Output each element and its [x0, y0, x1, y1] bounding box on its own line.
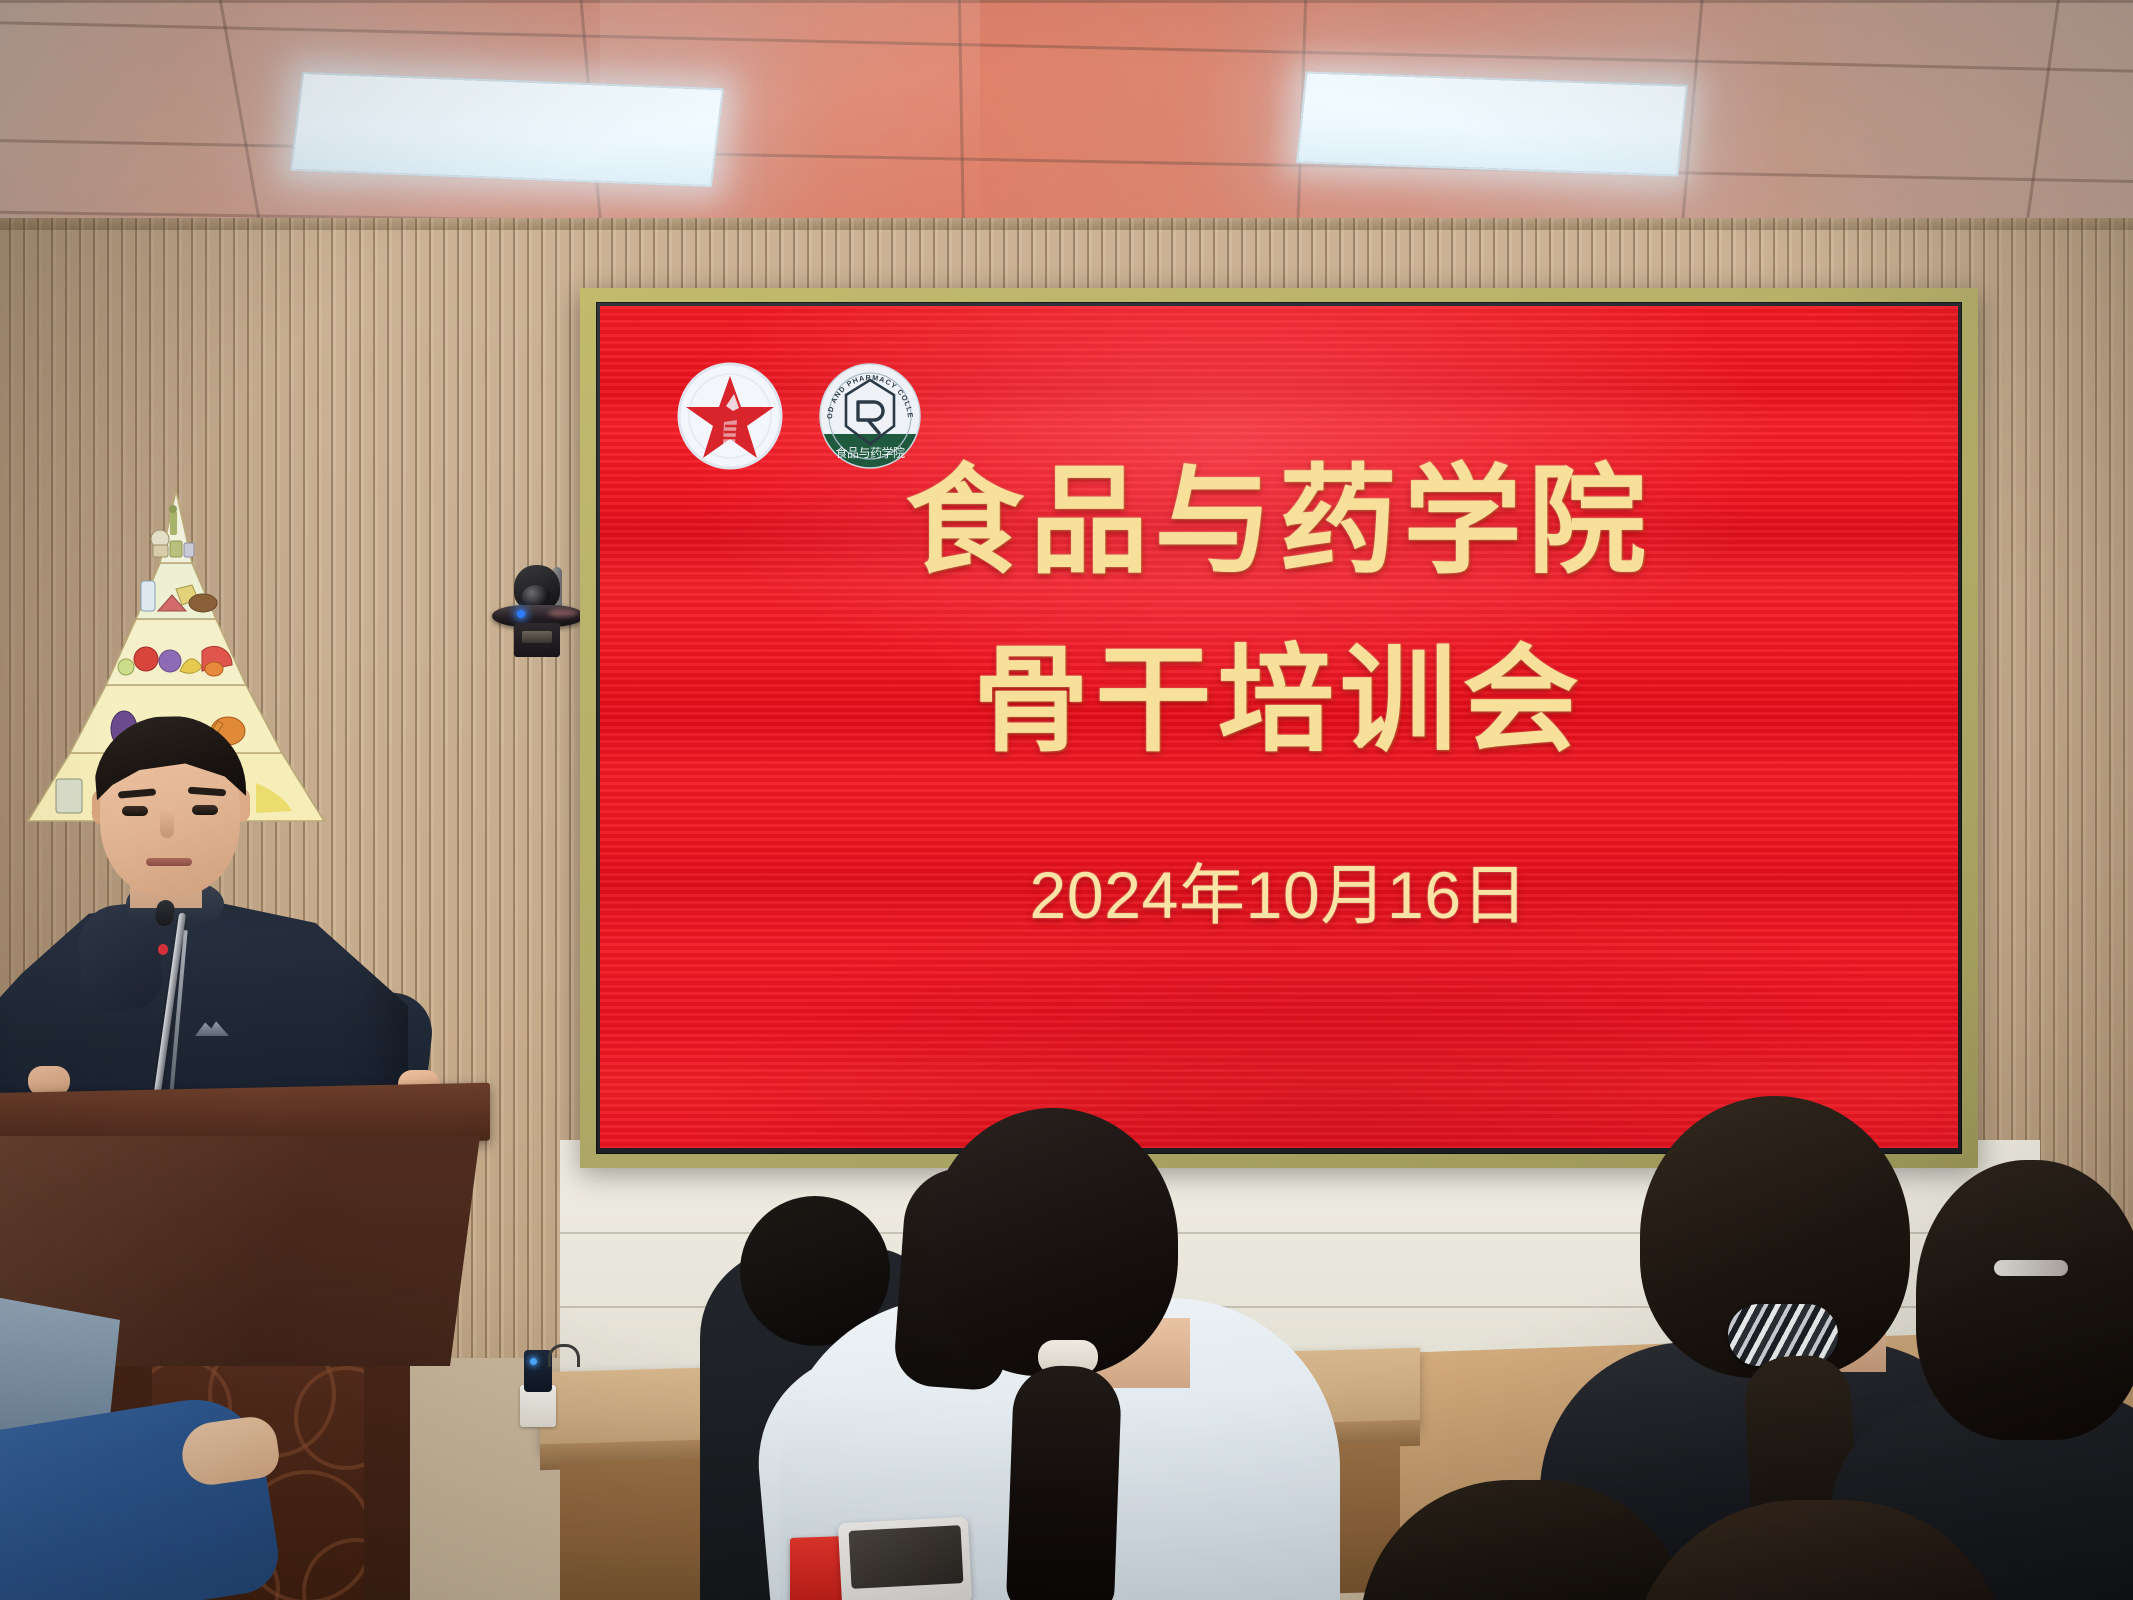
microphone-indicator — [158, 944, 168, 955]
ceiling — [0, 0, 2133, 235]
screen-title-line-2: 骨干培训会 — [600, 636, 1958, 766]
screen-title-block: 食品与药学院 骨干培训会 2024年10月16日 — [600, 456, 1958, 938]
hair-clip — [1994, 1260, 2068, 1276]
screen-date: 2024年10月16日 — [600, 842, 1958, 938]
power-cord — [548, 1344, 580, 1367]
smartphone-screen — [849, 1525, 964, 1589]
camera-status-led — [517, 610, 525, 618]
camera-lens-icon — [522, 585, 550, 607]
led-display-frame: FOOD AND PHARMACY COLLEGE 食品与药学院 食品与药学院 … — [580, 288, 1978, 1168]
audience-far-right-head — [1916, 1160, 2133, 1440]
ceiling-light-left — [290, 72, 724, 187]
audience-ponytail-white-top-head — [928, 1108, 1178, 1376]
food-and-pharmacy-college-seal-icon: FOOD AND PHARMACY COLLEGE 食品与药学院 — [816, 362, 924, 470]
led-display-screen: FOOD AND PHARMACY COLLEGE 食品与药学院 食品与药学院 … — [600, 306, 1958, 1148]
adapter-status-led — [530, 1358, 537, 1365]
communist-youth-league-emblem-icon — [676, 362, 784, 470]
ceiling-light-right — [1296, 71, 1688, 176]
screen-logo-row: FOOD AND PHARMACY COLLEGE 食品与药学院 — [676, 362, 924, 470]
screen-title-line-1: 食品与药学院 — [600, 456, 1958, 588]
audience-ponytail — [1006, 1364, 1123, 1600]
photo-scene: FOOD AND PHARMACY COLLEGE 食品与药学院 食品与药学院 … — [0, 0, 2133, 1600]
ptz-conference-camera — [492, 565, 584, 685]
